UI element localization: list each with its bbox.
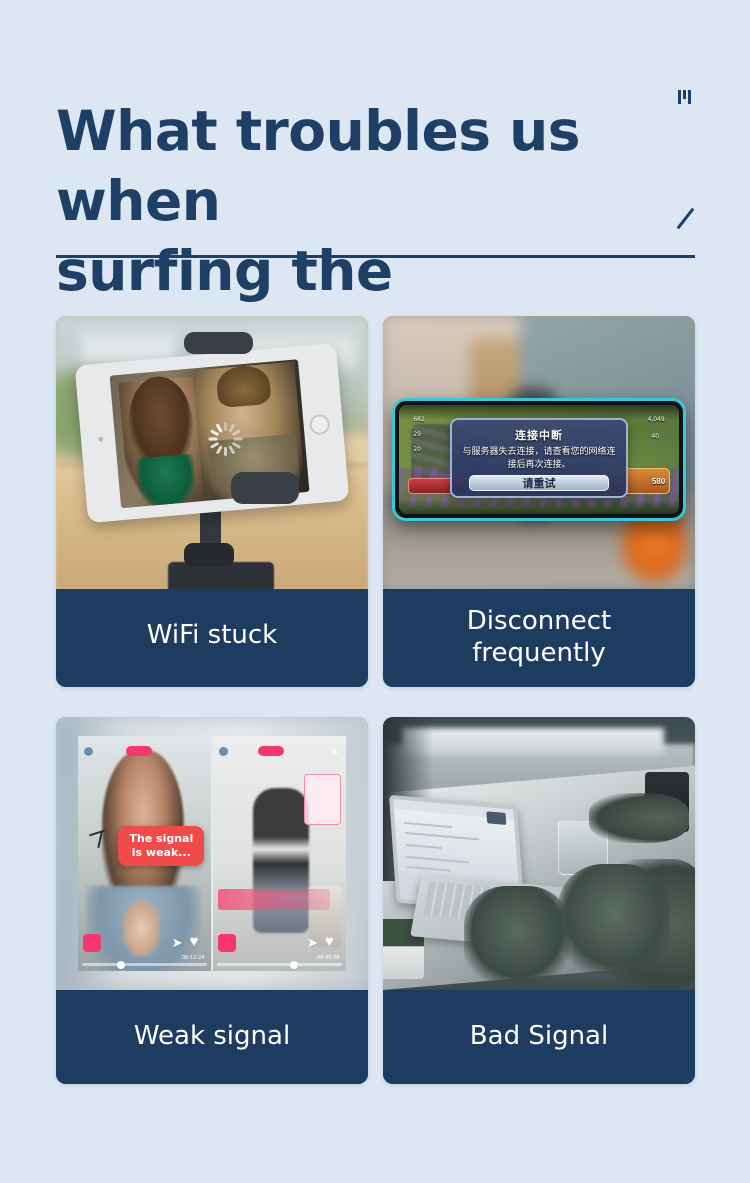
playback-progress-right[interactable] <box>217 963 342 966</box>
livestream-time-left: 08:12:24 <box>182 955 204 961</box>
heart-icon-2[interactable]: ♥ <box>325 934 341 950</box>
disconnect-dialog: 连接中断 与服务器失去连接，请查看您的网络连接后再次连接。 请重试 <box>450 418 629 499</box>
host-avatar[interactable] <box>83 746 94 757</box>
quote-mark-icon <box>678 90 696 106</box>
title-divider <box>56 255 695 258</box>
hud-gold: 682 <box>413 416 424 423</box>
loading-spinner-icon <box>209 422 243 456</box>
hud-dark-elixir: 20 <box>413 446 421 453</box>
card-label-disconnect-frequently: Disconnect frequently <box>383 589 695 687</box>
close-icon[interactable]: × <box>329 746 341 758</box>
hud-gems: 4,049 <box>647 416 664 423</box>
heart-icon[interactable]: ♥ <box>190 934 206 950</box>
livestream-time-right: 08:45:08 <box>317 955 339 961</box>
dialog-title: 连接中断 <box>515 427 563 443</box>
trouble-card-grid: WiFi stuck <box>56 316 695 1084</box>
shopping-bag-icon[interactable] <box>83 934 101 952</box>
host-avatar-2[interactable] <box>218 746 229 757</box>
tablet-on-stand-photo <box>56 316 368 589</box>
laptop-typing-photo <box>383 717 695 990</box>
trouble-card-weak-signal[interactable]: ➤ ♥ 08:12:24 × <box>56 717 368 1084</box>
hud-shield: 40 <box>651 433 659 440</box>
dialog-body: 与服务器失去连接，请查看您的网络连接后再次连接。 <box>460 446 619 472</box>
livestream-weak-signal-photo: ➤ ♥ 08:12:24 × <box>56 717 368 990</box>
phone-game-disconnect-photo: 682 29 20 4,049 40 580 连接中断 与服务器失去连接，请查看… <box>383 316 695 589</box>
share-icon-2[interactable]: ➤ <box>307 936 321 950</box>
slash-mark-icon <box>676 208 696 228</box>
livestream-pane-right: × ➤ ♥ 08:45:08 <box>211 736 346 971</box>
trouble-card-wifi-stuck[interactable]: WiFi stuck <box>56 316 368 687</box>
product-info-card[interactable] <box>304 774 341 826</box>
antenna-icon <box>87 832 113 848</box>
card-label-bad-signal: Bad Signal <box>383 990 695 1084</box>
hud-elixir: 29 <box>413 431 421 438</box>
card-label-weak-signal: Weak signal <box>56 990 368 1084</box>
dialog-retry-button[interactable]: 请重试 <box>469 475 609 491</box>
promo-banner[interactable] <box>218 889 330 910</box>
playback-progress-left[interactable] <box>82 963 207 966</box>
weak-signal-tooltip: The signal is weak... <box>118 826 204 866</box>
trouble-card-disconnect-frequently[interactable]: 682 29 20 4,049 40 580 连接中断 与服务器失去连接，请查看… <box>383 316 695 687</box>
page-root: What troubles us when surfing the Intern… <box>0 0 750 1183</box>
shopping-bag-icon-2[interactable] <box>218 934 236 952</box>
smartphone-device: 682 29 20 4,049 40 580 连接中断 与服务器失去连接，请查看… <box>392 398 685 521</box>
trouble-card-bad-signal[interactable]: Bad Signal <box>383 717 695 1084</box>
card-label-wifi-stuck: WiFi stuck <box>56 589 368 683</box>
share-icon[interactable]: ➤ <box>172 936 186 950</box>
